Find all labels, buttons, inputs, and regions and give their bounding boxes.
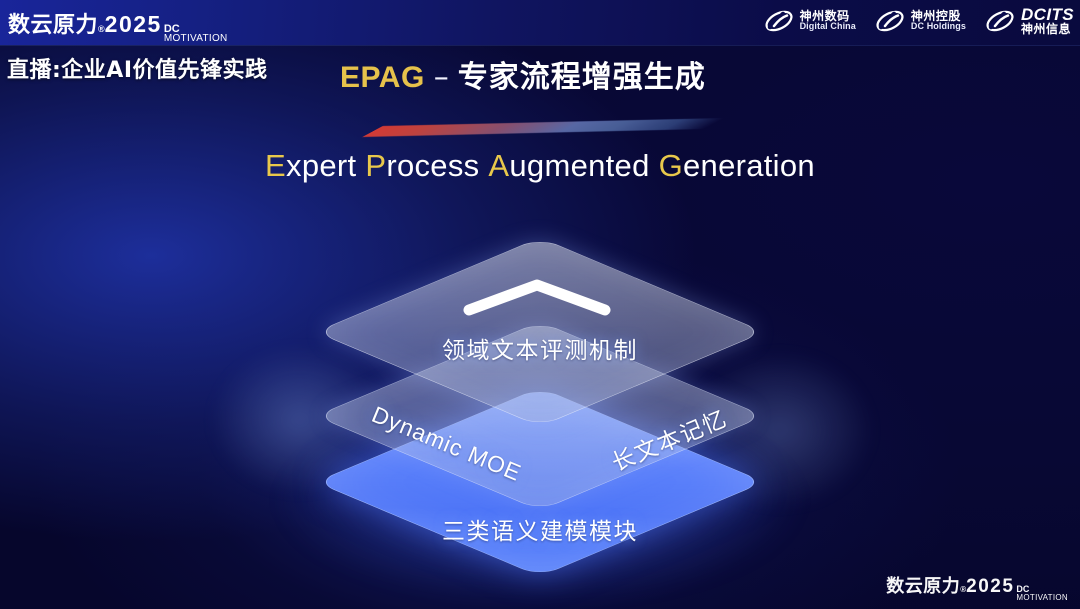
- diagram-label-top: 领域文本评测机制: [0, 331, 1080, 365]
- partner-logo-group: 神州数码 Digital China 神州控股 DC Holdings: [763, 6, 1074, 36]
- swoosh-icon: [984, 7, 1016, 35]
- footer-logo-year: 2025: [966, 576, 1014, 598]
- partner-en-digital-china: Digital China: [800, 22, 856, 31]
- subtitle-rest-augmented: ugmented: [509, 148, 649, 183]
- footer-logo-cn: 数云原力: [886, 572, 960, 598]
- subtitle-initial-p: P: [365, 148, 386, 183]
- live-stream-title: 直播:企业AI价值先锋实践: [7, 52, 268, 84]
- brand-logo-footer: 数云原力 ® 2025 DC MOTIVATION: [886, 572, 1068, 601]
- subtitle-initial-e: E: [265, 148, 286, 183]
- title-acronym: EPAG: [340, 61, 425, 94]
- partner-en-dc-holdings: DC Holdings: [911, 22, 966, 31]
- brand-logo-dc-motivation: DC MOTIVATION: [164, 24, 228, 43]
- brand-logo-motivation: MOTIVATION: [164, 34, 228, 43]
- brand-logo-top: 数云原力 ® 2025 DC MOTIVATION: [8, 7, 228, 43]
- partner-label-digital-china: 神州数码 Digital China: [800, 10, 856, 31]
- footer-logo-dc-motivation: DC MOTIVATION: [1016, 585, 1068, 601]
- title-dash: –: [434, 60, 449, 95]
- partner-cn-dcits: 神州信息: [1021, 23, 1074, 35]
- partner-label-dcits: DCITS 神州信息: [1021, 6, 1074, 36]
- swoosh-icon: [763, 7, 795, 35]
- diagram-label-bottom: 三类语义建模模块: [0, 512, 1080, 546]
- brand-logo-year: 2025: [105, 11, 162, 38]
- footer-logo-motivation: MOTIVATION: [1016, 594, 1068, 601]
- subtitle-initial-g: G: [659, 148, 683, 183]
- subtitle-rest-generation: eneration: [683, 148, 815, 183]
- title-divider: [362, 118, 724, 137]
- subtitle: Expert Process Augmented Generation: [0, 148, 1080, 184]
- partner-logo-digital-china: 神州数码 Digital China: [763, 7, 856, 35]
- brand-logo-registered: ®: [98, 24, 105, 34]
- title-chinese: 专家流程增强生成: [458, 60, 706, 95]
- swoosh-icon: [874, 7, 906, 35]
- partner-logo-dcits: DCITS 神州信息: [984, 6, 1074, 36]
- subtitle-rest-process: rocess: [386, 148, 479, 183]
- slide-canvas: 数云原力 ® 2025 DC MOTIVATION 直播:企业AI价值先锋实践 …: [0, 0, 1080, 609]
- subtitle-rest-expert: xpert: [286, 148, 356, 183]
- page-title: EPAG–专家流程增强生成: [340, 52, 706, 96]
- subtitle-initial-a: A: [488, 148, 509, 183]
- partner-logo-dc-holdings: 神州控股 DC Holdings: [874, 7, 966, 35]
- partner-en-dcits: DCITS: [1021, 6, 1074, 23]
- partner-label-dc-holdings: 神州控股 DC Holdings: [911, 10, 966, 31]
- brand-logo-cn: 数云原力: [8, 7, 98, 39]
